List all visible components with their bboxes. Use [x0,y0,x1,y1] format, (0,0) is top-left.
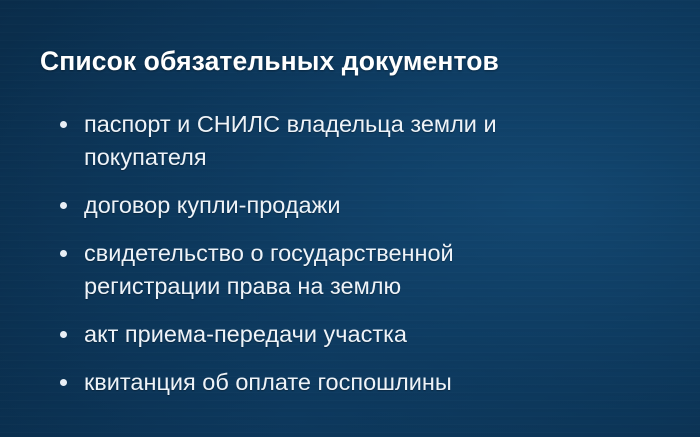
bullet-point-icon [60,379,67,386]
list-item-label: договор купли-продажи [84,189,566,222]
list-item: акт приема-передачи участка [56,318,656,351]
page-title: Список обязательных документов [40,44,660,78]
list-item: паспорт и СНИЛС владельца земли и покупа… [56,108,656,174]
list-item-label: паспорт и СНИЛС владельца земли и покупа… [84,108,566,174]
bullet-point-icon [60,121,67,128]
list-item-label: квитанция об оплате госпошлины [84,366,566,399]
list-item-label: акт приема-передачи участка [84,318,566,351]
list-item: договор купли-продажи [56,189,656,222]
list-item: квитанция об оплате госпошлины [56,366,656,399]
bullet-point-icon [60,202,67,209]
bullet-point-icon [60,250,67,257]
presentation-slide: Список обязательных документов паспорт и… [0,0,700,437]
document-requirements-list: паспорт и СНИЛС владельца земли и покупа… [56,108,656,399]
bullet-point-icon [60,331,67,338]
list-item: свидетельство о государственной регистра… [56,237,656,303]
list-item-label: свидетельство о государственной регистра… [84,237,566,303]
